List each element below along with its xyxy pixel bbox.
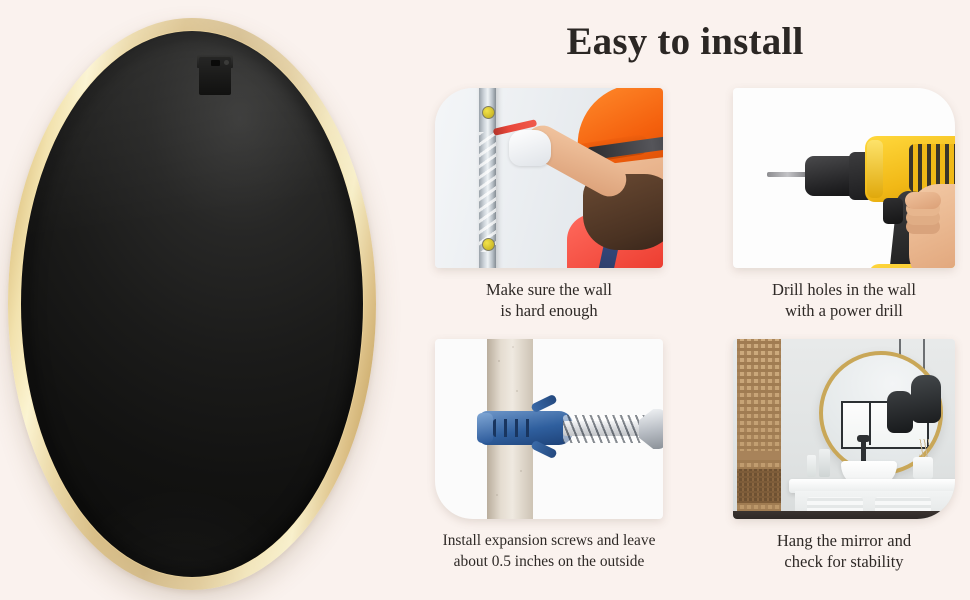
round-mirror <box>8 18 376 590</box>
drill-trigger <box>883 198 903 224</box>
step-1-caption: Make sure the wall is hard enough <box>435 279 663 321</box>
step-3-caption-line-1: Install expansion screws and leave <box>435 530 663 551</box>
wall-texture <box>479 132 496 252</box>
pendant-lamp-2-icon <box>911 375 941 423</box>
bracket-screw <box>224 60 229 65</box>
step-4-caption-line-1: Hang the mirror and <box>733 530 955 551</box>
step-card-2: Drill holes in the wall with a power dri… <box>733 88 955 321</box>
step-card-1: Make sure the wall is hard enough <box>435 88 663 321</box>
pendant-lamp-1-icon <box>887 391 913 433</box>
step-1-photo <box>435 88 663 268</box>
product-image-area <box>0 0 415 600</box>
step-card-4: Hang the mirror and check for stability <box>733 339 955 572</box>
steps-row-1: Make sure the wall is hard enough <box>435 88 955 321</box>
step-4-caption-line-2: check for stability <box>733 551 955 572</box>
step-3-photo <box>435 339 663 519</box>
diffuser-jar <box>913 457 933 479</box>
drill-torque-ring <box>867 140 883 198</box>
rattan-lower-grille <box>737 469 781 503</box>
anchor-ribs <box>493 419 537 437</box>
mirror-black-back-panel <box>21 31 363 577</box>
step-3-caption: Install expansion screws and leave about… <box>435 530 663 572</box>
step-4-photo <box>733 339 955 519</box>
step-3-caption-line-2: about 0.5 inches on the outside <box>435 551 663 572</box>
step-1-caption-line-2: is hard enough <box>435 300 663 321</box>
steps-row-2: Install expansion screws and leave about… <box>435 339 955 572</box>
step-2-photo <box>733 88 955 268</box>
white-work-glove-icon <box>509 130 551 166</box>
page-title: Easy to install <box>415 18 955 66</box>
screw-threads <box>563 415 649 443</box>
bracket-keyhole-slot <box>211 60 220 66</box>
soap-bottle-icon <box>807 455 816 477</box>
infographic-canvas: Easy to install <box>0 0 970 600</box>
bathroom-floor <box>733 511 955 519</box>
step-card-3: Install expansion screws and leave about… <box>435 339 663 572</box>
level-bubble-vial-icon <box>482 106 495 119</box>
step-1-caption-line-1: Make sure the wall <box>435 279 663 300</box>
reed-diffuser-icon <box>919 439 929 459</box>
install-steps-panel: Easy to install <box>415 0 970 600</box>
step-2-caption-line-1: Drill holes in the wall <box>733 279 955 300</box>
anchor-head <box>477 413 493 443</box>
hand-fingers <box>905 192 941 209</box>
step-4-caption: Hang the mirror and check for stability <box>733 530 955 572</box>
steps-grid: Make sure the wall is hard enough <box>435 88 955 572</box>
level-bubble-vial-2-icon <box>482 238 495 251</box>
step-2-caption: Drill holes in the wall with a power dri… <box>733 279 955 321</box>
dispenser-bottle-icon <box>819 449 830 477</box>
step-2-caption-line-2: with a power drill <box>733 300 955 321</box>
rattan-band <box>737 451 781 460</box>
